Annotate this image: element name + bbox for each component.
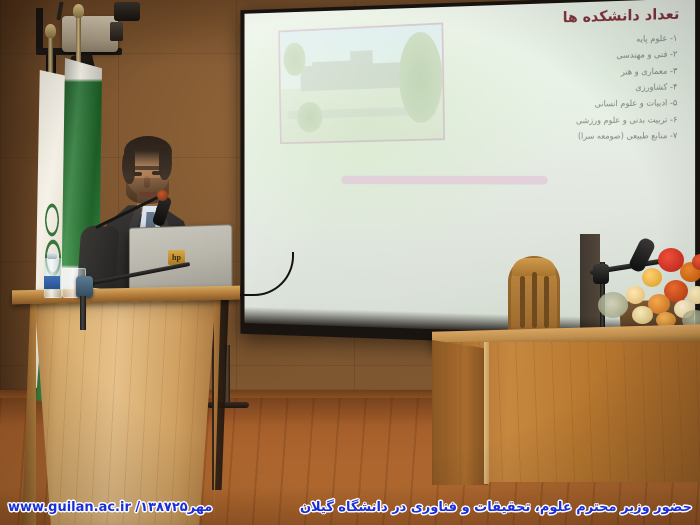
slide-list-item: ۵- ادبیات و علوم انسانی [535, 96, 678, 114]
head-table-side [432, 340, 488, 485]
slide-accent-bar [341, 176, 547, 185]
camera-lens-icon [110, 22, 123, 41]
slide-list-item: ۷- منابع طبیعی (صومعه سرا) [535, 128, 678, 145]
chair-slat [532, 272, 537, 328]
head-table-corner-edge [484, 342, 489, 484]
photo-tree [398, 31, 443, 123]
flag-pole-right [76, 14, 81, 62]
flower [632, 306, 653, 324]
podium [22, 300, 228, 525]
flag-finial-right [73, 4, 84, 18]
water-bottle-cap [47, 252, 57, 259]
foliage [598, 292, 628, 318]
podium-mic-joint [76, 276, 93, 298]
podium-mic-stem [80, 296, 86, 330]
flag-finial-left [45, 24, 56, 38]
chair-slat [544, 276, 549, 328]
photo-building [350, 50, 373, 89]
water-bottle-label [44, 276, 60, 289]
speaker-eye [152, 171, 161, 175]
slide-list-item: ۶- تربیت بدنی و علوم ورزشی [535, 112, 678, 129]
slide-bullet-list: ۱- علوم پایه ۲- فنی و مهندسی ۳- معماری و… [535, 31, 678, 145]
photo-tree [283, 42, 306, 76]
caption-website-date: www.guilan.ac.ir /۱۳۸۷مهر۲۵ [8, 500, 212, 515]
camera-top-unit [114, 2, 140, 21]
flag-pole-left [48, 34, 53, 76]
speaker-eye [133, 172, 142, 176]
caption-event-title: حضور وزیر محترم علوم، تحقیقات و فناوری د… [300, 500, 692, 515]
slide-title: تعداد دانشکده ها [563, 5, 680, 26]
flower [642, 268, 662, 287]
flower-arrangement [596, 246, 700, 330]
photo-canvas: تعداد دانشکده ها ۱- علوم پایه ۲- فنی و م… [0, 0, 700, 525]
photo-tree [297, 101, 323, 133]
chair-slat [520, 276, 525, 328]
slide-photo [278, 22, 445, 144]
podium-mic-windscreen [157, 190, 168, 201]
flower [626, 286, 645, 304]
speaker-eyebrow [131, 166, 163, 170]
